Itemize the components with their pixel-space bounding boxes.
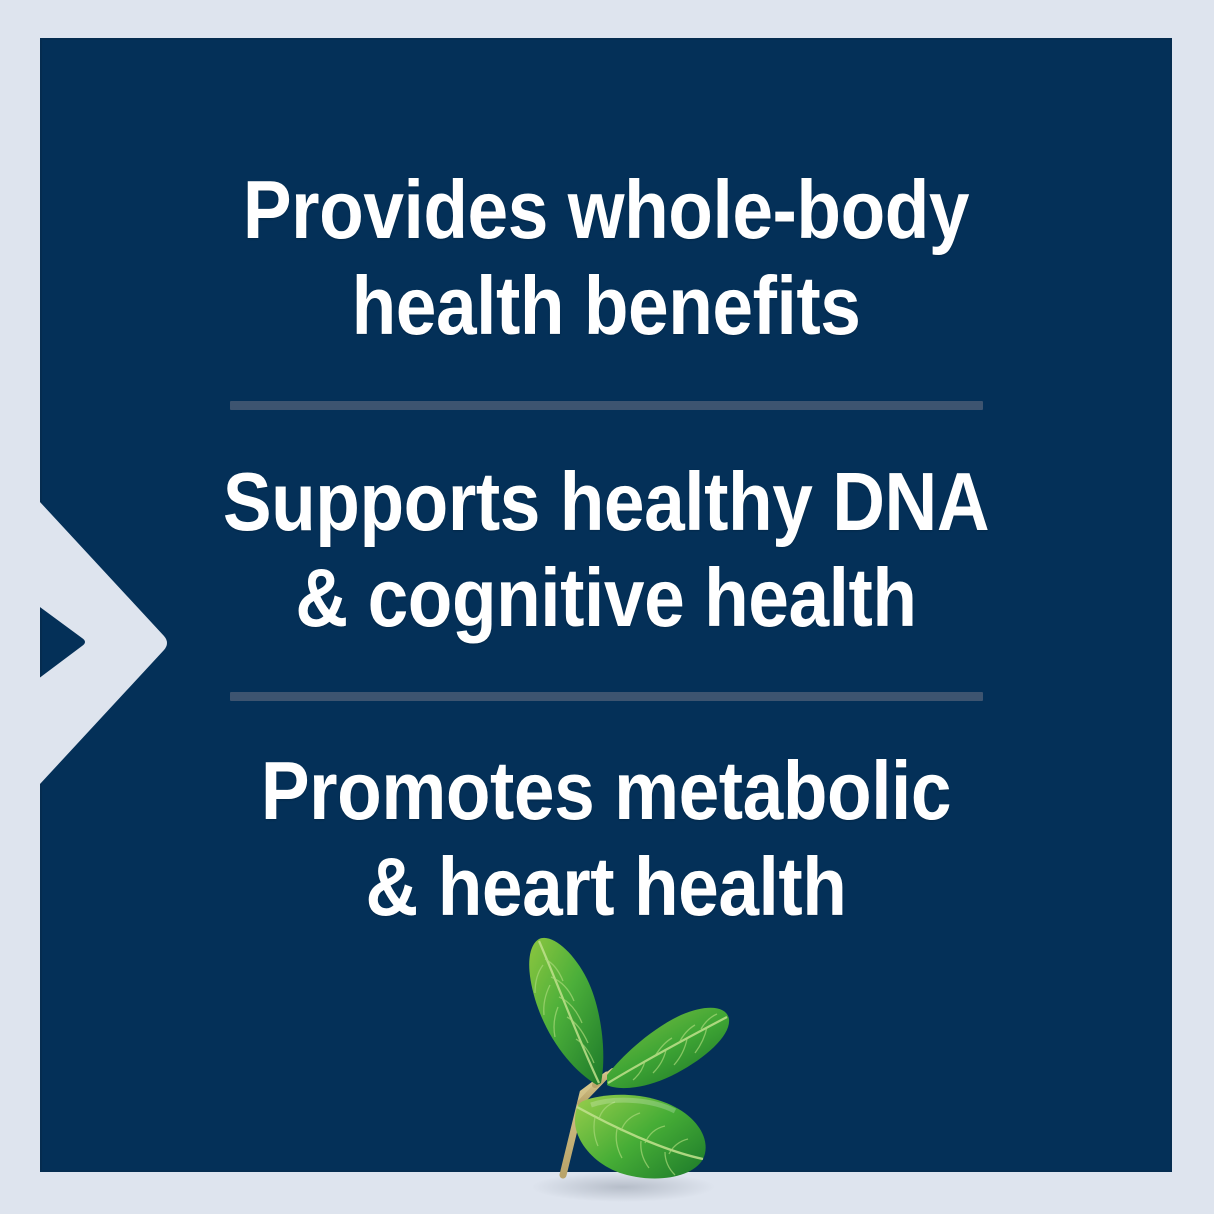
benefits-card: Provides whole-body health benefits Supp… <box>40 38 1172 1172</box>
divider-2 <box>230 692 983 701</box>
benefits-content: Provides whole-body health benefits Supp… <box>40 38 1172 1172</box>
divider-1 <box>230 401 983 410</box>
product-benefits-panel: Provides whole-body health benefits Supp… <box>0 0 1214 1214</box>
benefit-metabolic-heart: Promotes metabolic & heart health <box>108 743 1104 936</box>
benefit-dna-cognitive: Supports healthy DNA & cognitive health <box>108 454 1104 647</box>
benefit-whole-body: Provides whole-body health benefits <box>108 162 1104 355</box>
chevron-right-icon <box>0 448 170 848</box>
